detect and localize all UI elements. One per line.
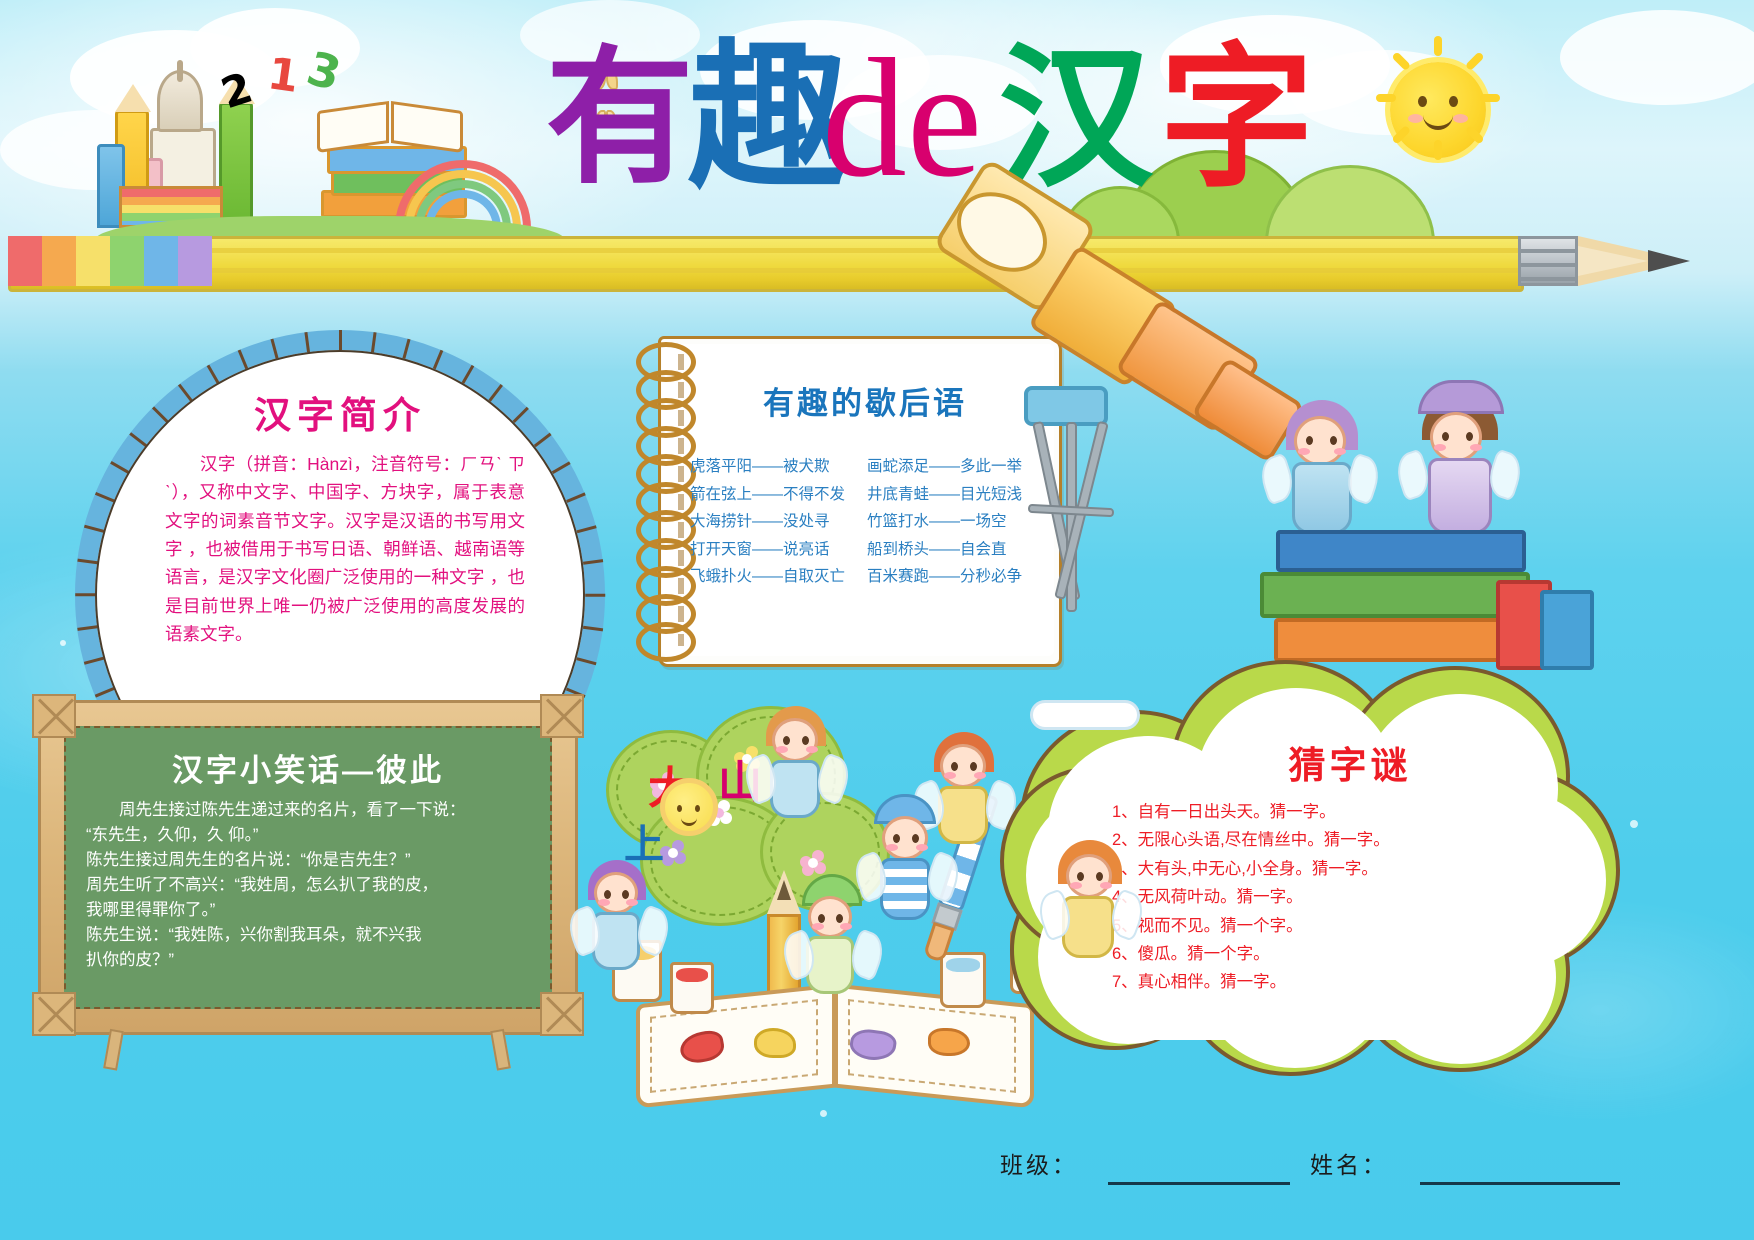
sparkle xyxy=(820,1110,827,1117)
fairy-center-green xyxy=(790,880,882,1010)
pencil-wood-inner xyxy=(1578,246,1648,276)
pencil-tip xyxy=(115,84,151,112)
joke-line: “东先生，久仰，久 仰。” xyxy=(86,823,534,848)
joke-body: 周先生接过陈先生递过来的名片，看了一下说： “东先生，久仰，久 仰。” 陈先生接… xyxy=(86,798,534,974)
xiehouyu-item: 飞蛾扑火——自取灭亡 xyxy=(690,563,845,591)
cloud-decoration xyxy=(1560,10,1754,105)
name-input-line[interactable] xyxy=(1420,1182,1620,1185)
pencil-divider xyxy=(0,228,1754,294)
paint-splotch xyxy=(754,1028,796,1058)
xiehouyu-item: 虎落平阳——被犬欺 xyxy=(690,453,845,481)
xiehouyu-item: 箭在弦上——不得不发 xyxy=(690,481,845,509)
pencil-green xyxy=(219,102,253,228)
blackboard-legs xyxy=(38,1030,578,1070)
joke-blackboard: 汉字小笑话—彼此 周先生接过陈先生递过来的名片，看了一下说： “东先生，久仰，久… xyxy=(38,700,578,1060)
joke-line: 我哪里得罪你了。” xyxy=(86,898,534,923)
name-label: 姓名： xyxy=(1310,1146,1388,1180)
title-char-1: 有 xyxy=(546,44,694,192)
hat xyxy=(1418,380,1504,414)
blackboard-corner xyxy=(540,694,584,738)
joke-line: 陈先生接过周先生的名片说：“你是吉先生？” xyxy=(86,848,534,873)
small-cloud xyxy=(1030,700,1140,730)
book-blue xyxy=(1276,530,1526,572)
joke-line: 陈先生说：“我姓陈，兴你割我耳朵，就不兴我 xyxy=(86,923,534,948)
riddle-item: 6、傻瓜。猜一个字。 xyxy=(1112,940,1532,968)
fairy-center-top xyxy=(752,706,848,836)
joke-line: 扒你的皮？” xyxy=(86,948,534,973)
pencil-ferrule xyxy=(1518,236,1578,286)
riddle-heading: 猜字谜 xyxy=(1120,735,1580,789)
pen-tip xyxy=(177,60,183,82)
fairy-center-left xyxy=(576,860,666,990)
fairy-riddle-left xyxy=(1048,840,1144,980)
riddle-item: 3、大有头,中无心,小全身。猜一字。 xyxy=(1112,855,1532,883)
book-green xyxy=(1260,572,1530,618)
joke-line: 周先生听了不高兴：“我姓周，怎么扒了我的皮， xyxy=(86,873,534,898)
xiehouyu-item: 大海捞针——没处寻 xyxy=(690,508,845,536)
riddle-item: 7、真心相伴。猜一字。 xyxy=(1112,968,1532,996)
riddle-item: 4、无风荷叶动。猜一字。 xyxy=(1112,883,1532,911)
pencil-rainbow-band xyxy=(8,236,208,286)
intro-heading: 汉字简介 xyxy=(75,385,605,439)
sparkle xyxy=(60,640,66,646)
paint-pot xyxy=(670,962,714,1014)
riddle-item: 2、无限心头语,尽在情丝中。猜一字。 xyxy=(1112,826,1532,854)
blackboard-corner xyxy=(32,694,76,738)
pencil-lead xyxy=(1648,250,1690,272)
spiral-ring xyxy=(636,622,696,662)
open-book xyxy=(317,100,467,148)
telescope-mount xyxy=(1024,386,1108,426)
joke-heading: 汉字小笑话—彼此 xyxy=(64,745,552,790)
joke-line: 周先生接过陈先生递过来的名片，看了一下说： xyxy=(86,798,534,823)
small-sun-icon xyxy=(660,778,718,836)
intro-panel: 汉字简介 汉字（拼音：Hànzì，注音符号：ㄏㄢˋ ㄗˋ），又称中文字、中国字、… xyxy=(75,330,605,730)
riddle-item: 5、视而不见。猜一个字。 xyxy=(1112,912,1532,940)
poster-canvas: 2 1 3 有 趣 de 汉 字 xyxy=(0,0,1754,1240)
sparkle xyxy=(1630,820,1638,828)
class-input-line[interactable] xyxy=(1108,1182,1290,1185)
xiehouyu-item: 打开天窗——说亮话 xyxy=(690,536,845,564)
footer-fields: 班级： 姓名： xyxy=(1000,1140,1700,1210)
riddle-item: 1、自有一日出头天。猜一字。 xyxy=(1112,798,1532,826)
class-label: 班级： xyxy=(1000,1146,1078,1180)
xiehouyu-column-left: 虎落平阳——被犬欺 箭在弦上——不得不发 大海捞针——没处寻 打开天窗——说亮话… xyxy=(690,453,845,591)
riddle-list: 1、自有一日出头天。猜一字。 2、无限心头语,尽在情丝中。猜一字。 3、大有头,… xyxy=(1112,798,1532,997)
sun-icon xyxy=(1390,62,1486,158)
paint-splotch xyxy=(928,1028,970,1056)
intro-body-text: 汉字（拼音：Hànzì，注音符号：ㄏㄢˋ ㄗˋ），又称中文字、中国字、方块字，属… xyxy=(165,450,525,648)
